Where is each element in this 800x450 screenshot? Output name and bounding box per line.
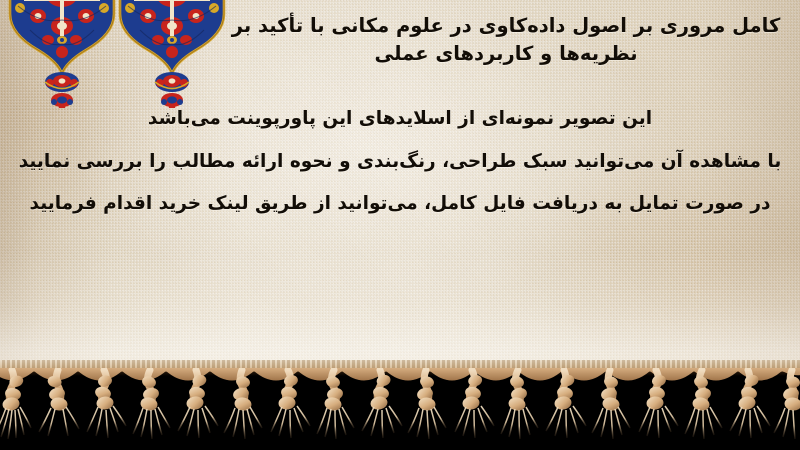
body-line-3: در صورت تمایل به دریافت فایل کامل، می‌تو…	[6, 195, 794, 214]
slide-title: کامل مروری بر اصول داده‌کاوی در علوم مکا…	[226, 12, 786, 69]
presentation-slide: کامل مروری بر اصول داده‌کاوی در علوم مکا…	[0, 0, 800, 450]
fringe-tassel-row	[0, 368, 800, 450]
slide-text-layer: کامل مروری بر اصول داده‌کاوی در علوم مکا…	[0, 0, 800, 372]
slide-title-line-2: نظریه‌ها و کاربردهای عملی	[226, 40, 786, 68]
slide-body: این تصویر نمونه‌ای از اسلایدهای این پاور…	[6, 110, 794, 214]
body-line-2: با مشاهده آن می‌توانید سبک طراحی، رنگ‌بن…	[6, 153, 794, 172]
slide-title-line-1: کامل مروری بر اصول داده‌کاوی در علوم مکا…	[226, 12, 786, 40]
carpet-fringe-zone	[0, 360, 800, 450]
body-line-1: این تصویر نمونه‌ای از اسلایدهای این پاور…	[6, 110, 794, 129]
